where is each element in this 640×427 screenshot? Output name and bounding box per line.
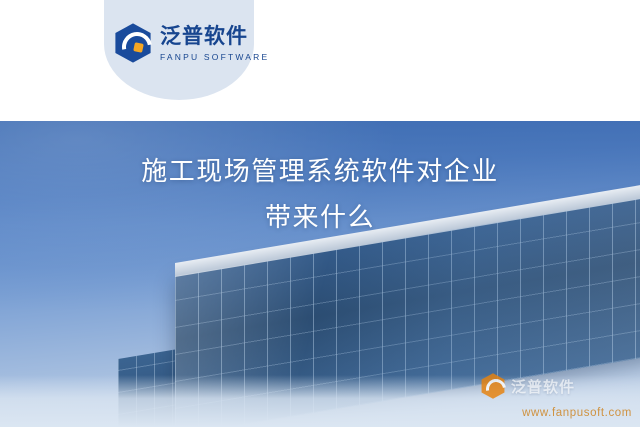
hero-banner: 施工现场管理系统软件对企业 带来什么 泛普软件 www.fanpusoft.co… <box>0 121 640 427</box>
fanpu-hex-logo-icon <box>480 373 506 399</box>
hero-headline: 施工现场管理系统软件对企业 带来什么 <box>0 149 640 241</box>
watermark-brand: 泛普软件 <box>480 373 575 399</box>
brand-logo[interactable]: 泛普软件 FANPU SOFTWARE <box>113 18 245 68</box>
page-root: 泛普软件 FANPU SOFTWARE 施工现场管理系统软件对企业 带来什么 <box>0 0 640 427</box>
fanpu-hex-logo-icon <box>113 23 153 63</box>
watermark-url: www.fanpusoft.com <box>522 407 632 419</box>
watermark: 泛普软件 www.fanpusoft.com <box>480 373 632 419</box>
brand-logo-text: 泛普软件 FANPU SOFTWARE <box>160 24 269 63</box>
brand-name-en: FANPU SOFTWARE <box>160 51 269 63</box>
site-header: 泛普软件 FANPU SOFTWARE <box>0 0 640 121</box>
brand-name-cn: 泛普软件 <box>160 24 269 49</box>
watermark-brand-name: 泛普软件 <box>511 376 575 397</box>
